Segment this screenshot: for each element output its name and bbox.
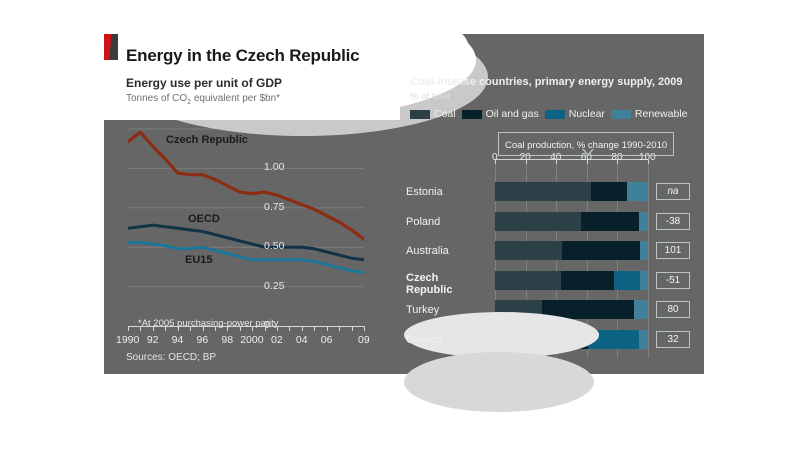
bar-segment-oil-and-gas xyxy=(581,212,639,231)
bar-segment-oil-and-gas xyxy=(561,271,615,290)
line-chart-x-label: 92 xyxy=(147,334,159,346)
bar-chart-x-tickmark xyxy=(648,160,649,164)
coal-production-value-turkey: 80 xyxy=(656,301,690,318)
bar-segment-coal xyxy=(495,212,581,231)
legend-label: Renewable xyxy=(635,108,688,120)
coal-production-value-label: na xyxy=(667,186,678,197)
bar-segment-renewable xyxy=(640,241,648,260)
legend-swatch-icon xyxy=(462,110,482,119)
line-chart-y-tick: 1.00 xyxy=(264,161,284,173)
coal-production-value-estonia: na xyxy=(656,183,690,200)
bar-row-label-poland: Poland xyxy=(406,216,440,228)
bar-row xyxy=(495,241,648,260)
bar-chart-x-axis xyxy=(495,159,648,160)
line-chart-x-label: 94 xyxy=(172,334,184,346)
line-chart-plot-area xyxy=(128,128,364,334)
series-label-czech-republic: Czech Republic xyxy=(166,134,248,146)
units-text-a: Tonnes of CO xyxy=(126,93,187,104)
line-chart-x-label: 04 xyxy=(296,334,308,346)
line-chart-x-label: 09 xyxy=(358,334,370,346)
legend-item-nuclear: Nuclear xyxy=(545,108,605,120)
line-chart-x-label: 2000 xyxy=(240,334,263,346)
bar-row-label-czech-republic: Czech Republic xyxy=(406,272,452,296)
line-chart-x-label: 06 xyxy=(321,334,333,346)
coal-production-value-label: 80 xyxy=(667,304,678,315)
bar-chart-x-tickmark xyxy=(556,160,557,164)
line-chart-x-tickmark xyxy=(289,326,290,331)
bar-segment-oil-and-gas xyxy=(562,241,640,260)
legend-swatch-icon xyxy=(410,110,430,119)
bar-chart-x-tickmark xyxy=(526,160,527,164)
bar-segment-renewable xyxy=(639,330,648,349)
coal-production-value-czech-republic: -51 xyxy=(656,272,690,289)
bar-segment-renewable xyxy=(639,212,648,231)
line-series-oecd xyxy=(128,225,364,260)
line-chart-x-label: 96 xyxy=(197,334,209,346)
left-chart-subtitle: Energy use per unit of GDP xyxy=(126,76,282,90)
bar-segment-coal xyxy=(495,182,591,201)
czech-flag-mark-icon xyxy=(104,34,118,60)
bar-chart-title: Coal-intense countries, primary energy s… xyxy=(410,76,682,88)
legend-item-coal: Coal xyxy=(410,108,456,120)
bar-row-label-australia: Australia xyxy=(406,245,449,257)
legend-swatch-icon xyxy=(611,110,631,119)
sources-note: Sources: OECD; BP xyxy=(126,352,216,363)
decorative-swoosh-corner-inner xyxy=(416,26,470,80)
line-chart-x-tickmark xyxy=(327,326,328,331)
footnote: *At 2005 purchasing-power parity xyxy=(138,318,278,329)
line-chart-y-tick: 0.25 xyxy=(264,280,284,292)
line-series-czech-republic xyxy=(128,132,364,239)
coal-production-value-greece: 32 xyxy=(656,331,690,348)
coal-production-value-label: -38 xyxy=(666,216,680,227)
line-chart-y-tick: 0.50 xyxy=(264,240,284,252)
left-chart-units: Tonnes of CO2 equivalent per $bn* xyxy=(126,93,280,106)
page-title: Energy in the Czech Republic xyxy=(126,46,359,66)
coal-production-value-label: -51 xyxy=(666,275,680,286)
bar-chart-x-tickmark xyxy=(587,160,588,164)
bar-row-label-turkey: Turkey xyxy=(406,304,439,316)
legend-item-renewable: Renewable xyxy=(611,108,688,120)
line-chart-series xyxy=(128,132,364,272)
decorative-swoosh-bottom xyxy=(404,352,594,412)
coal-production-value-label: 101 xyxy=(665,245,682,256)
bar-chart-subtitle: % of total xyxy=(410,91,450,102)
series-label-oecd: OECD xyxy=(188,213,220,225)
bar-segment-renewable xyxy=(634,300,648,319)
series-label-eu15: EU15 xyxy=(185,254,213,266)
coal-production-value-label: 32 xyxy=(667,334,678,345)
legend-label: Coal xyxy=(434,108,456,120)
line-chart-x-label: 1990 xyxy=(116,334,139,346)
bar-segment-coal xyxy=(495,241,562,260)
line-chart-x-tickmark xyxy=(314,326,315,331)
coal-production-value-australia: 101 xyxy=(656,242,690,259)
line-chart-x-tickmark xyxy=(128,326,129,331)
bar-row xyxy=(495,212,648,231)
bar-segment-oil-and-gas xyxy=(591,182,626,201)
bar-chart-legend: CoalOil and gasNuclearRenewable xyxy=(410,108,687,120)
legend-label: Oil and gas xyxy=(486,108,539,120)
bar-chart-gridline xyxy=(648,164,649,358)
line-chart-x-tickmark xyxy=(302,326,303,331)
legend-swatch-icon xyxy=(545,110,565,119)
line-chart-x-label: 98 xyxy=(221,334,233,346)
line-chart-gridlines xyxy=(128,129,364,287)
bar-row-label-greece: Greece xyxy=(406,334,442,346)
bar-segment-nuclear xyxy=(614,271,640,290)
callout-tail-inner-icon xyxy=(583,148,593,154)
line-chart-x-tickmark xyxy=(364,326,365,331)
line-chart-x-tickmark xyxy=(352,326,353,331)
bar-segment-renewable xyxy=(640,271,648,290)
bar-row xyxy=(495,182,648,201)
infographic-root: 00.250.500.751.001.25 199092949698200002… xyxy=(0,0,810,464)
legend-item-oil-and-gas: Oil and gas xyxy=(462,108,539,120)
line-chart-x-tickmark xyxy=(339,326,340,331)
line-chart-y-tick: 0.75 xyxy=(264,201,284,213)
bar-segment-renewable xyxy=(627,182,648,201)
headline-block: Energy in the Czech Republic Energy use … xyxy=(104,34,400,120)
line-chart-svg xyxy=(128,128,364,334)
bar-chart-x-tickmark xyxy=(617,160,618,164)
bar-chart-x-tickmark xyxy=(495,160,496,164)
line-chart-x-label: 02 xyxy=(271,334,283,346)
bar-row-label-estonia: Estonia xyxy=(406,186,443,198)
bar-segment-coal xyxy=(495,271,561,290)
coal-production-value-poland: -38 xyxy=(656,213,690,230)
units-text-b: equivalent per $bn* xyxy=(191,93,280,104)
legend-label: Nuclear xyxy=(569,108,605,120)
bar-row xyxy=(495,271,648,290)
